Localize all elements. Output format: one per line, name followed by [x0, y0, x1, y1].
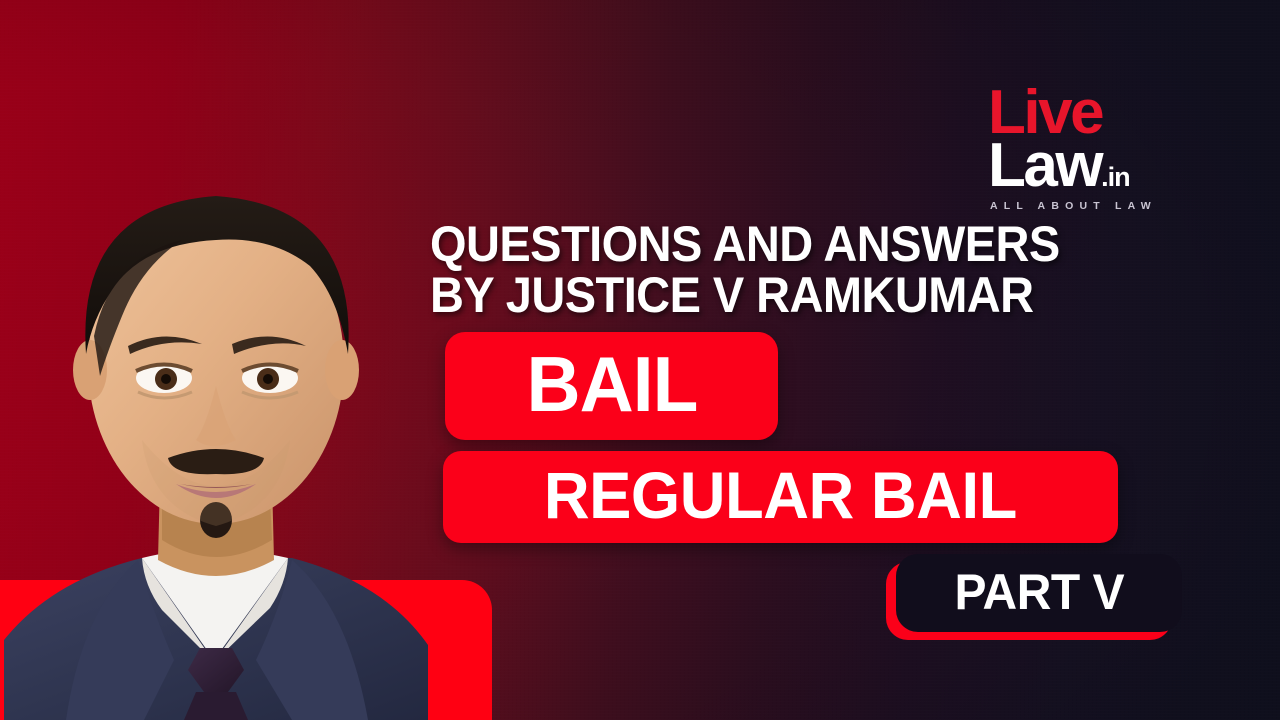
speaker-portrait [0, 140, 432, 720]
headline-line-2: BY JUSTICE V RAMKUMAR [430, 270, 1163, 321]
logo-law-text: Law [988, 131, 1101, 200]
thumbnail-canvas: Live Law.in ALL ABOUT LAW QUESTIONS AND … [0, 0, 1280, 720]
livelaw-logo[interactable]: Live Law.in ALL ABOUT LAW [988, 84, 1193, 212]
logo-tagline: ALL ABOUT LAW [988, 201, 1193, 212]
part-badge-label: PART V [954, 567, 1124, 617]
logo-tld-text: .in [1101, 162, 1130, 192]
topic-badge-bail: BAIL [445, 332, 778, 440]
subtopic-badge-regular-bail: REGULAR BAIL [443, 451, 1118, 543]
logo-second-row: Law.in [988, 135, 1193, 197]
part-badge: PART V [896, 554, 1182, 632]
topic-badge-label: BAIL [526, 345, 697, 423]
headline: QUESTIONS AND ANSWERS BY JUSTICE V RAMKU… [430, 219, 1163, 321]
subtopic-badge-label: REGULAR BAIL [544, 462, 1017, 528]
headline-line-1: QUESTIONS AND ANSWERS [430, 219, 1163, 270]
part-badge-group: PART V [886, 554, 1182, 644]
